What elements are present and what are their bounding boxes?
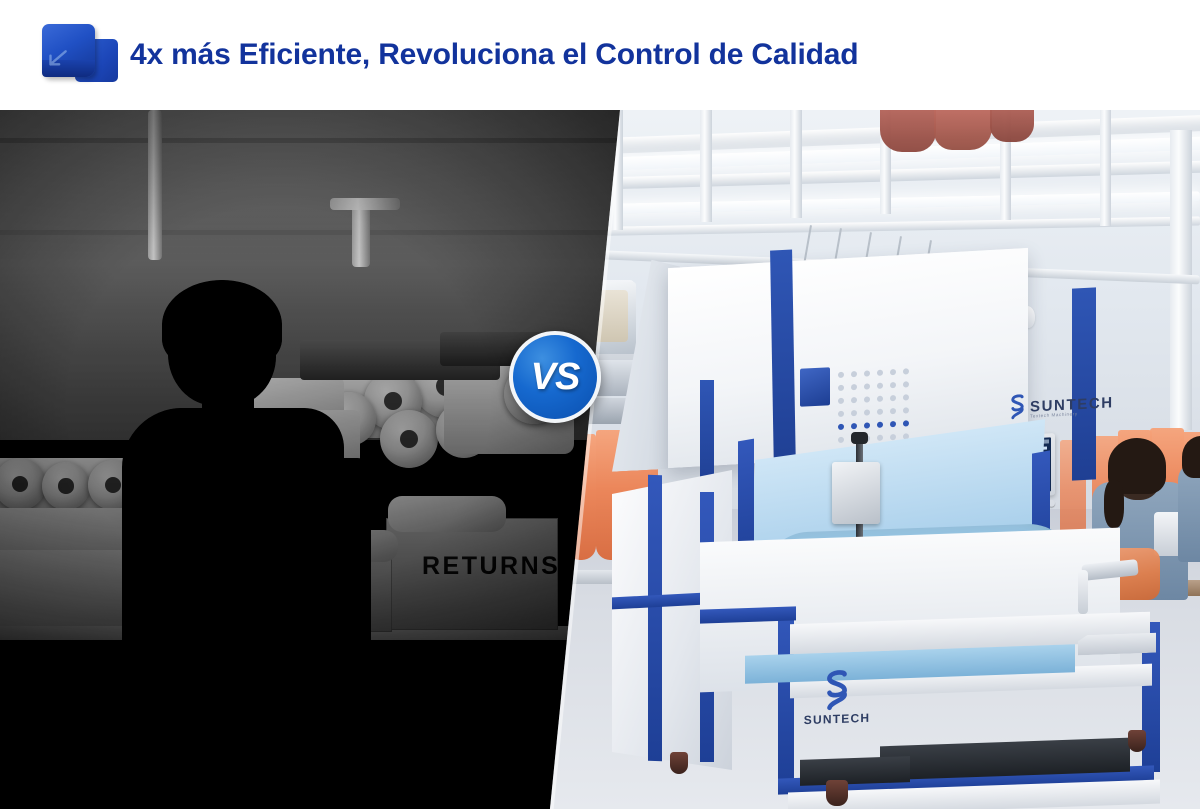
- manual-inspection-scene: RETURNS: [0, 110, 620, 809]
- brand-logo-icon: [26, 21, 118, 89]
- machine-brand-text-lower: SUNTECH: [804, 711, 870, 727]
- suntech-s-icon: [1010, 394, 1025, 421]
- scene-vignette: [0, 110, 620, 809]
- scan-head-post-cap: [851, 432, 868, 444]
- machine-side-arm: [1078, 570, 1088, 614]
- worker-ponytail: [1104, 480, 1124, 528]
- machine-brand-subtext: Textech Machinery: [1030, 411, 1078, 419]
- machine-cabinet-trim: [648, 475, 662, 761]
- comparison-stage: SUNTECH Textech Machinery: [0, 110, 1200, 809]
- machine-caster-wheel: [826, 780, 848, 806]
- machine-brand-mark-lower: SUNTECH: [800, 649, 874, 748]
- machine-brand-mark-upper: SUNTECH Textech Machinery: [1010, 389, 1114, 420]
- page-title: 4x más Eficiente, Revoluciona el Control…: [130, 38, 858, 72]
- header-bar: 4x más Eficiente, Revoluciona el Control…: [0, 0, 1200, 110]
- ceiling-pillar: [700, 110, 712, 222]
- suntech-s-icon-lower: [824, 670, 850, 713]
- machine-accent-stripe: [770, 250, 796, 473]
- machine-guide-tray: [1078, 633, 1156, 656]
- logo-arrow-icon: [44, 47, 70, 73]
- machine-caster-wheel: [670, 752, 688, 774]
- hanging-garment: [880, 110, 936, 152]
- ai-scan-head: [832, 462, 880, 524]
- ceiling-pillar: [790, 110, 802, 218]
- machine-accent-stripe: [1072, 287, 1096, 480]
- ceiling-pillar: [1100, 110, 1111, 226]
- machine-base-frame: [800, 756, 910, 786]
- machine-logo-plate: [800, 367, 830, 407]
- vs-label: VS: [531, 356, 580, 399]
- machine-caster-wheel: [1128, 730, 1146, 752]
- machine-accent-top: [700, 380, 714, 490]
- vs-badge: VS: [509, 331, 601, 423]
- hanging-garment: [990, 110, 1034, 142]
- hanging-garment: [934, 110, 992, 150]
